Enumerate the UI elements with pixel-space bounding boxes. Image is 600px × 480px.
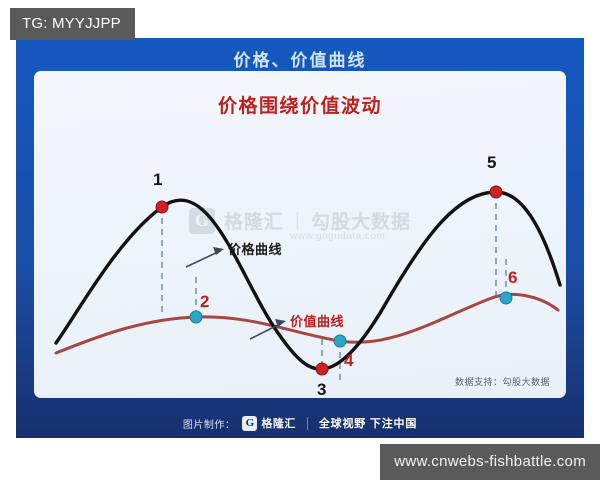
marker-dot-4	[334, 335, 346, 347]
marker-label-4: 4	[344, 352, 353, 369]
telegram-watermark-tag: TG: MYYJJPP	[10, 8, 135, 40]
footer-divider	[307, 417, 308, 430]
footer-made-by-label: 图片制作：	[183, 416, 236, 431]
footer-logo-text: 格隆汇	[261, 415, 296, 431]
poster-footer: 图片制作： G 格隆汇 全球视野 下注中国	[16, 415, 584, 431]
footer-slogan: 全球视野 下注中国	[319, 415, 417, 431]
chart-panel: 价格围绕价值波动 G 格隆汇 | 勾股大数据 www.gogudata.com	[34, 71, 566, 398]
marker-dot-6	[500, 292, 512, 304]
marker-label-3: 3	[317, 381, 326, 398]
marker-dot-3	[316, 363, 328, 375]
marker-label-2: 2	[200, 293, 209, 310]
data-credit: 数据支持：勾股大数据	[455, 375, 550, 388]
marker-label-5: 5	[487, 154, 496, 171]
price-curve-label: 价格曲线	[228, 243, 282, 256]
price-curve-line	[56, 192, 560, 369]
footer-logo: G 格隆汇	[242, 415, 296, 431]
marker-dot-1	[156, 201, 168, 213]
poster-title: 价格、价值曲线	[16, 46, 584, 71]
marker-dot-2	[190, 311, 202, 323]
footer-logo-icon: G	[242, 416, 257, 431]
price-curve-annotation-arrow	[186, 247, 224, 267]
site-url-tag: www.cnwebs-fishbattle.com	[380, 444, 600, 480]
marker-dot-5	[490, 186, 502, 198]
value-curve-label: 价值曲线	[290, 315, 344, 328]
poster-frame: 价格、价值曲线 价格围绕价值波动 G 格隆汇 | 勾股大数据 www.gogud…	[16, 38, 584, 438]
marker-label-6: 6	[508, 269, 517, 286]
price-value-curve-chart	[34, 71, 566, 398]
marker-label-1: 1	[153, 171, 162, 188]
